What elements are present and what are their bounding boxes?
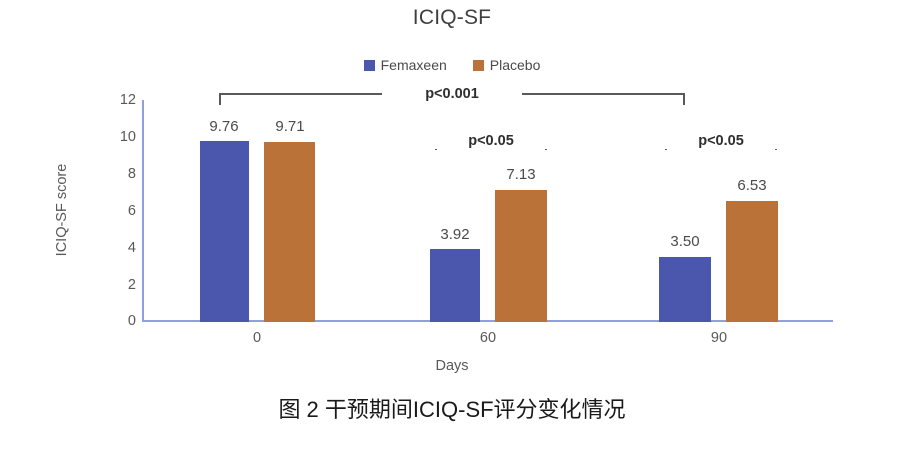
x-axis-title: Days — [0, 358, 904, 374]
bar-placebo-day90[interactable] — [726, 201, 778, 322]
bar-femaxeen-day0[interactable] — [200, 141, 249, 322]
figure-caption: 图 2 干预期间ICIQ-SF评分变化情况 — [0, 392, 904, 424]
significance-label-day90: p<0.05 — [651, 133, 791, 149]
bar-value-placebo-day0: 9.71 — [245, 118, 335, 135]
bar-value-femaxeen-day90: 3.50 — [640, 233, 730, 250]
bar-placebo-day60[interactable] — [495, 190, 547, 322]
bar-value-placebo-day60: 7.13 — [476, 166, 566, 183]
bars-layer — [0, 0, 904, 322]
figure-container: ICIQ-SF Femaxeen Placebo 12 10 8 6 4 2 0… — [0, 0, 904, 452]
x-tick-label-60: 60 — [428, 330, 548, 346]
x-tick-label-90: 90 — [659, 330, 779, 346]
bar-value-femaxeen-day60: 3.92 — [410, 226, 500, 243]
bar-femaxeen-day60[interactable] — [430, 249, 480, 322]
bar-femaxeen-day90[interactable] — [659, 257, 711, 322]
significance-label-day60: p<0.05 — [421, 133, 561, 149]
significance-label-overall: p<0.001 — [382, 86, 522, 102]
plot-area: 12 10 8 6 4 2 0 ICIQ-SF score 9.76 9.71 … — [0, 0, 904, 452]
x-tick-label-0: 0 — [197, 330, 317, 346]
bar-placebo-day0[interactable] — [264, 142, 315, 322]
bar-value-placebo-day90: 6.53 — [707, 177, 797, 194]
